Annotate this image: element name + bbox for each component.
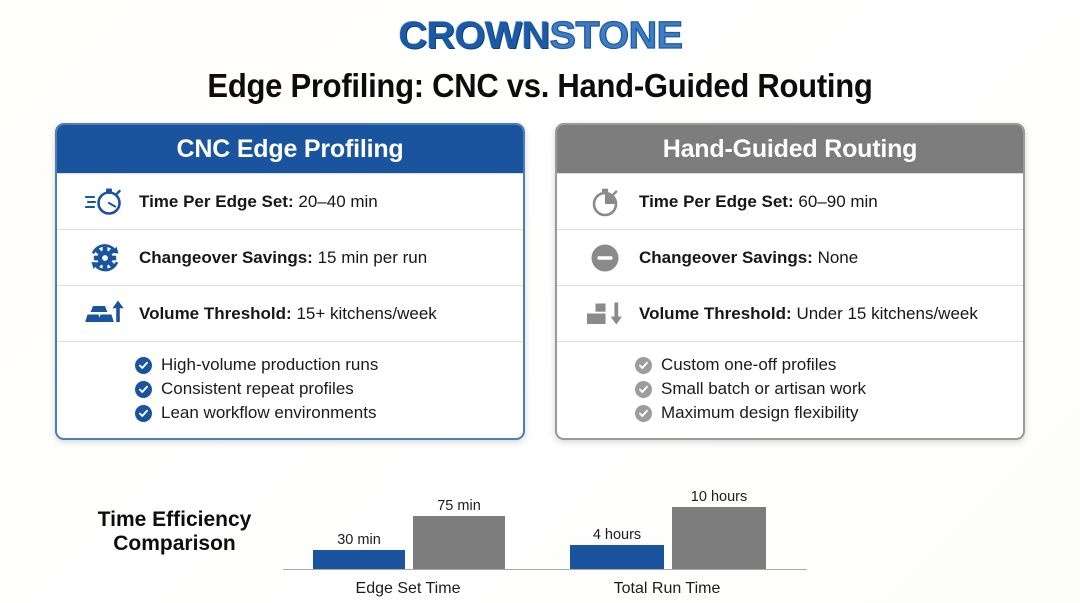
card-cnc-row-volume: Volume Threshold: 15+ kitchens/week [57, 285, 523, 341]
card-hand-row-changeover-text: Changeover Savings: None [631, 248, 858, 268]
card-cnc-row-changeover-value: 15 min per run [318, 248, 428, 267]
card-hand-row-volume-label: Volume Threshold: [639, 304, 792, 323]
bar-total-run-hand [672, 507, 766, 569]
list-item-label: Custom one-off profiles [661, 355, 836, 375]
list-item-label: Lean workflow environments [161, 403, 376, 423]
bar-label-total-run-cnc: 4 hours [570, 527, 664, 543]
check-circle-icon [135, 381, 152, 398]
list-item: Small batch or artisan work [557, 377, 1023, 401]
card-cnc-row-time: Time Per Edge Set: 20–40 min [57, 173, 523, 229]
bars-up-arrow-icon [79, 299, 131, 329]
card-cnc-header: CNC Edge Profiling [57, 125, 523, 173]
list-item: Maximum design flexibility [557, 401, 1023, 425]
list-item: Consistent repeat profiles [57, 377, 523, 401]
logo-stone-text: STONE [549, 15, 682, 57]
card-cnc-row-changeover: Changeover Savings: 15 min per run [57, 229, 523, 285]
list-item-label: High-volume production runs [161, 355, 378, 375]
card-hand-header: Hand-Guided Routing [557, 125, 1023, 173]
list-item-label: Maximum design flexibility [661, 403, 858, 423]
card-hand-row-volume-text: Volume Threshold: Under 15 kitchens/week [631, 304, 978, 324]
comparison-cards: CNC Edge Profiling Time Per Edge Set: 20 [0, 123, 1080, 440]
blocks-down-arrow-icon [579, 299, 631, 329]
card-cnc-row-volume-value: 15+ kitchens/week [296, 304, 436, 323]
chart-title-line2: Comparison [62, 532, 287, 556]
card-cnc-row-changeover-text: Changeover Savings: 15 min per run [131, 248, 427, 268]
chart-plot: 30 min 75 min Edge Set Time 4 hours 10 h… [280, 470, 810, 603]
chart-category-edge-set-time: Edge Set Time [308, 580, 508, 598]
card-hand-row-time: Time Per Edge Set: 60–90 min [557, 173, 1023, 229]
check-circle-icon [635, 381, 652, 398]
stopwatch-slow-icon [579, 186, 631, 218]
card-hand-row-volume: Volume Threshold: Under 15 kitchens/week [557, 285, 1023, 341]
card-hand-row-volume-value: Under 15 kitchens/week [796, 304, 977, 323]
check-circle-icon [635, 405, 652, 422]
bar-total-run-cnc [570, 545, 664, 569]
list-item: Lean workflow environments [57, 401, 523, 425]
card-cnc-row-volume-text: Volume Threshold: 15+ kitchens/week [131, 304, 437, 324]
logo-text: CROWNSTONE [398, 17, 682, 55]
gear-refresh-icon [79, 241, 131, 275]
chart-title-line1: Time Efficiency [62, 508, 287, 532]
list-item-label: Small batch or artisan work [661, 379, 866, 399]
card-cnc-row-time-label: Time Per Edge Set: [139, 192, 294, 211]
bar-edge-set-hand [413, 516, 505, 569]
bar-edge-set-cnc [313, 550, 405, 569]
bar-label-total-run-hand: 10 hours [672, 489, 766, 505]
time-efficiency-chart: Time Efficiency Comparison 30 min 75 min… [0, 470, 1080, 603]
card-cnc-row-time-value: 20–40 min [298, 192, 377, 211]
card-hand-row-time-value: 60–90 min [798, 192, 877, 211]
list-item-label: Consistent repeat profiles [161, 379, 354, 399]
bar-label-edge-set-cnc: 30 min [313, 532, 405, 548]
card-cnc-edge-profiling: CNC Edge Profiling Time Per Edge Set: 20 [55, 123, 525, 440]
card-hand-bullets: Custom one-off profiles Small batch or a… [557, 341, 1023, 438]
card-hand-row-time-label: Time Per Edge Set: [639, 192, 794, 211]
brand-logo: CROWNSTONE [0, 0, 1080, 55]
bar-label-edge-set-hand: 75 min [413, 498, 505, 514]
list-item: High-volume production runs [57, 353, 523, 377]
page-title: Edge Profiling: CNC vs. Hand-Guided Rout… [32, 67, 1047, 105]
card-hand-row-changeover-value: None [818, 248, 859, 267]
logo-crown-text: CROWN [398, 15, 549, 57]
chart-title: Time Efficiency Comparison [62, 508, 287, 555]
card-cnc-bullets: High-volume production runs Consistent r… [57, 341, 523, 438]
chart-category-total-run-time: Total Run Time [567, 580, 767, 598]
minus-circle-icon [579, 242, 631, 274]
check-circle-icon [635, 357, 652, 374]
card-hand-row-changeover-label: Changeover Savings: [639, 248, 813, 267]
stopwatch-fast-icon [79, 186, 131, 218]
card-hand-guided-routing: Hand-Guided Routing Time Per Edge Set: 6… [555, 123, 1025, 440]
check-circle-icon [135, 357, 152, 374]
card-cnc-row-time-text: Time Per Edge Set: 20–40 min [131, 192, 378, 212]
card-hand-row-time-text: Time Per Edge Set: 60–90 min [631, 192, 878, 212]
card-cnc-row-changeover-label: Changeover Savings: [139, 248, 313, 267]
card-hand-row-changeover: Changeover Savings: None [557, 229, 1023, 285]
card-cnc-row-volume-label: Volume Threshold: [139, 304, 292, 323]
check-circle-icon [135, 405, 152, 422]
list-item: Custom one-off profiles [557, 353, 1023, 377]
